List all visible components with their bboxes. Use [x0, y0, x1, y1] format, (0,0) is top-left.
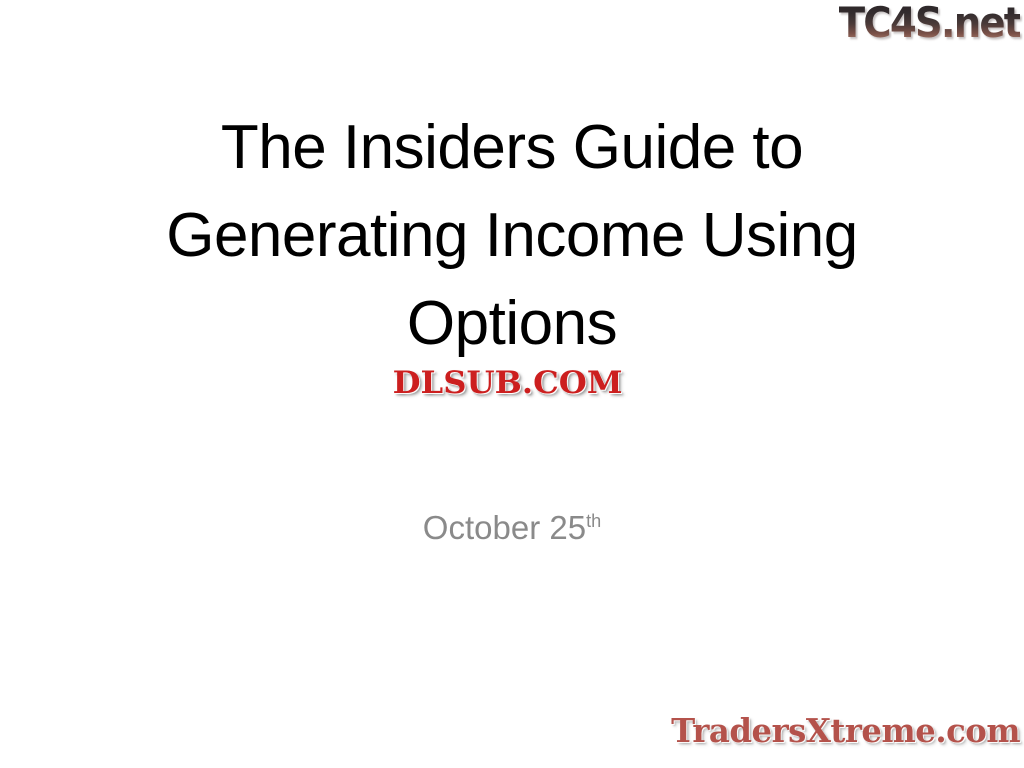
tradersxtreme-com-watermark: TradersXtreme.com [664, 710, 1020, 752]
tradersxtreme-com-watermark-text: TradersXtreme.com [671, 713, 1020, 749]
slide-subtitle-date: October 25th [60, 508, 964, 548]
slide-title-line-2: Generating Income Using [60, 192, 964, 280]
slide-title: The Insiders Guide to Generating Income … [60, 104, 964, 368]
tc4s-net-watermark: TC4S.net [823, 0, 1020, 46]
slide-subtitle: October 25th [60, 508, 964, 548]
slide-title-line-1: The Insiders Guide to [60, 104, 964, 192]
slide-subtitle-date-text: October 25 [423, 509, 586, 546]
presentation-slide: TC4S.net The Insiders Guide to Generatin… [0, 0, 1024, 768]
dlsub-com-watermark: DLSUB.COM [362, 363, 654, 403]
slide-title-line-3: Options [60, 280, 964, 368]
slide-subtitle-date-ordinal: th [586, 511, 601, 531]
dlsub-com-watermark-text: DLSUB.COM [393, 368, 623, 399]
tc4s-net-watermark-text: TC4S.net [838, 1, 1020, 45]
